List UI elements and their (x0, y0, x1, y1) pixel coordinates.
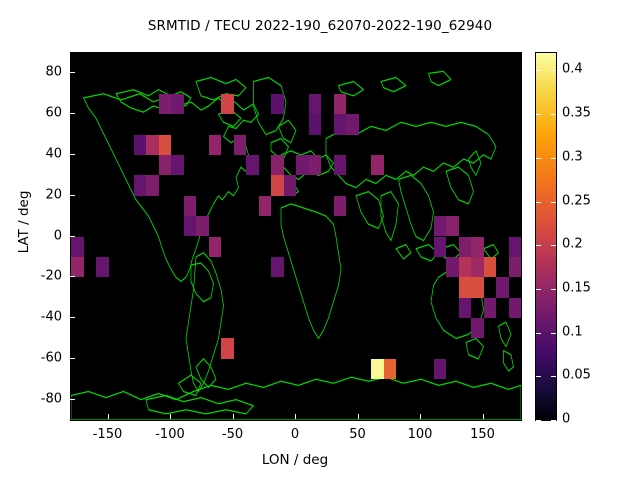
x-tick-mark (358, 414, 359, 419)
heatmap-cell (146, 135, 159, 155)
y-tick-label: 60 (45, 106, 62, 121)
heatmap-cell (484, 298, 497, 318)
colorbar-tick-mark (551, 202, 556, 203)
heatmap-cell (171, 94, 184, 114)
heatmap-cell (246, 155, 259, 175)
colorbar-tick-label: 0.35 (562, 106, 591, 121)
heatmap-cell (271, 257, 284, 277)
colorbar-tick-label: 0 (562, 412, 570, 427)
heatmap-cell (434, 359, 447, 379)
heatmap-cell (221, 94, 234, 114)
heatmap-cell (184, 196, 197, 216)
y-tick-label: -60 (41, 350, 62, 365)
colorbar-tick-labels: 0.40.350.30.250.20.150.10.050 (562, 52, 632, 419)
heatmap-cell (271, 175, 284, 195)
colorbar (535, 52, 557, 421)
heatmap-cell (459, 237, 472, 257)
colorbar-tick-mark (551, 245, 556, 246)
y-tick-label: -40 (41, 310, 62, 325)
heatmap-cell (334, 196, 347, 216)
heatmap-cell (371, 359, 384, 379)
heatmap-cell (309, 155, 322, 175)
y-tick-label: -80 (41, 391, 62, 406)
heatmap-cells (71, 53, 521, 420)
heatmap-cell (296, 155, 309, 175)
heatmap-cell (71, 237, 84, 257)
heatmap-cell (96, 257, 109, 277)
y-tick-mark (70, 276, 75, 277)
x-tick-label: 100 (408, 427, 433, 442)
map-plot-area (70, 52, 522, 421)
heatmap-cell (159, 155, 172, 175)
y-tick-mark (70, 72, 75, 73)
y-tick-mark (70, 236, 75, 237)
x-tick-mark (170, 414, 171, 419)
heatmap-cell (446, 216, 459, 236)
x-tick-mark (233, 414, 234, 419)
x-tick-mark (483, 414, 484, 419)
x-tick-mark (108, 414, 109, 419)
heatmap-cell (371, 155, 384, 175)
heatmap-cell (209, 135, 222, 155)
colorbar-tick-label: 0.05 (562, 368, 591, 383)
colorbar-tick-mark (536, 70, 541, 71)
y-tick-label: -20 (41, 269, 62, 284)
colorbar-tick-mark (536, 333, 541, 334)
heatmap-cell (271, 155, 284, 175)
y-tick-label: 0 (54, 228, 62, 243)
heatmap-cell (346, 114, 359, 134)
heatmap-cell (284, 175, 297, 195)
colorbar-tick-mark (551, 376, 556, 377)
heatmap-cell (434, 237, 447, 257)
x-tick-label: 150 (470, 427, 495, 442)
heatmap-cell (71, 257, 84, 277)
heatmap-cell (309, 114, 322, 134)
colorbar-tick-mark (536, 420, 541, 421)
heatmap-cell (159, 135, 172, 155)
heatmap-cell (196, 216, 209, 236)
x-axis-label: LON / deg (0, 452, 590, 468)
heatmap-cell (471, 257, 484, 277)
heatmap-cell (459, 298, 472, 318)
colorbar-tick-mark (551, 70, 556, 71)
heatmap-cell (434, 216, 447, 236)
x-tick-label: -150 (93, 427, 123, 442)
y-tick-label: 40 (45, 146, 62, 161)
colorbar-tick-label: 0.2 (562, 237, 583, 252)
x-tick-mark (295, 414, 296, 419)
colorbar-tick-mark (551, 420, 556, 421)
heatmap-cell (496, 277, 509, 297)
heatmap-cell (209, 237, 222, 257)
x-tick-mark (420, 414, 421, 419)
y-tick-mark (70, 317, 75, 318)
heatmap-cell (471, 318, 484, 338)
colorbar-tick-label: 0.15 (562, 280, 591, 295)
y-tick-mark (70, 113, 75, 114)
y-tick-label: 80 (45, 65, 62, 80)
heatmap-cell (171, 155, 184, 175)
y-axis-label: LAT / deg (16, 162, 32, 282)
x-axis-ticks: -150-100-50050100150 (0, 427, 640, 447)
x-tick-label: -50 (222, 427, 243, 442)
colorbar-tick-mark (551, 114, 556, 115)
colorbar-tick-label: 0.3 (562, 149, 583, 164)
heatmap-cell (334, 114, 347, 134)
colorbar-tick-mark (551, 289, 556, 290)
heatmap-cell (134, 135, 147, 155)
colorbar-tick-mark (536, 289, 541, 290)
colorbar-tick-mark (536, 376, 541, 377)
heatmap-cell (309, 94, 322, 114)
page-title: SRMTID / TECU 2022-190_62070-2022-190_62… (0, 18, 640, 34)
colorbar-tick-mark (536, 114, 541, 115)
heatmap-cell (509, 298, 522, 318)
heatmap-cell (159, 94, 172, 114)
heatmap-cell (234, 135, 247, 155)
colorbar-gradient (536, 53, 556, 420)
heatmap-cell (221, 338, 234, 358)
figure-root: SRMTID / TECU 2022-190_62070-2022-190_62… (0, 0, 640, 480)
heatmap-cell (271, 94, 284, 114)
heatmap-cell (334, 94, 347, 114)
heatmap-cell (471, 237, 484, 257)
heatmap-cell (146, 175, 159, 195)
y-tick-mark (70, 195, 75, 196)
colorbar-tick-label: 0.1 (562, 324, 583, 339)
colorbar-tick-label: 0.4 (562, 62, 583, 77)
heatmap-cell (459, 257, 472, 277)
colorbar-tick-mark (551, 158, 556, 159)
colorbar-tick-mark (536, 245, 541, 246)
heatmap-cell (384, 359, 397, 379)
y-tick-mark (70, 358, 75, 359)
colorbar-tick-label: 0.25 (562, 193, 591, 208)
x-tick-label: 50 (349, 427, 366, 442)
heatmap-cell (334, 155, 347, 175)
y-tick-label: 20 (45, 187, 62, 202)
x-tick-label: -100 (155, 427, 185, 442)
heatmap-cell (184, 216, 197, 236)
heatmap-cell (471, 277, 484, 297)
colorbar-tick-mark (551, 333, 556, 334)
heatmap-cell (259, 196, 272, 216)
heatmap-cell (459, 277, 472, 297)
colorbar-tick-mark (536, 202, 541, 203)
heatmap-cell (509, 257, 522, 277)
heatmap-cell (134, 175, 147, 195)
heatmap-cell (509, 237, 522, 257)
colorbar-tick-mark (536, 158, 541, 159)
y-tick-mark (70, 154, 75, 155)
y-tick-mark (70, 399, 75, 400)
heatmap-cell (484, 257, 497, 277)
heatmap-cell (446, 257, 459, 277)
x-tick-label: 0 (291, 427, 299, 442)
